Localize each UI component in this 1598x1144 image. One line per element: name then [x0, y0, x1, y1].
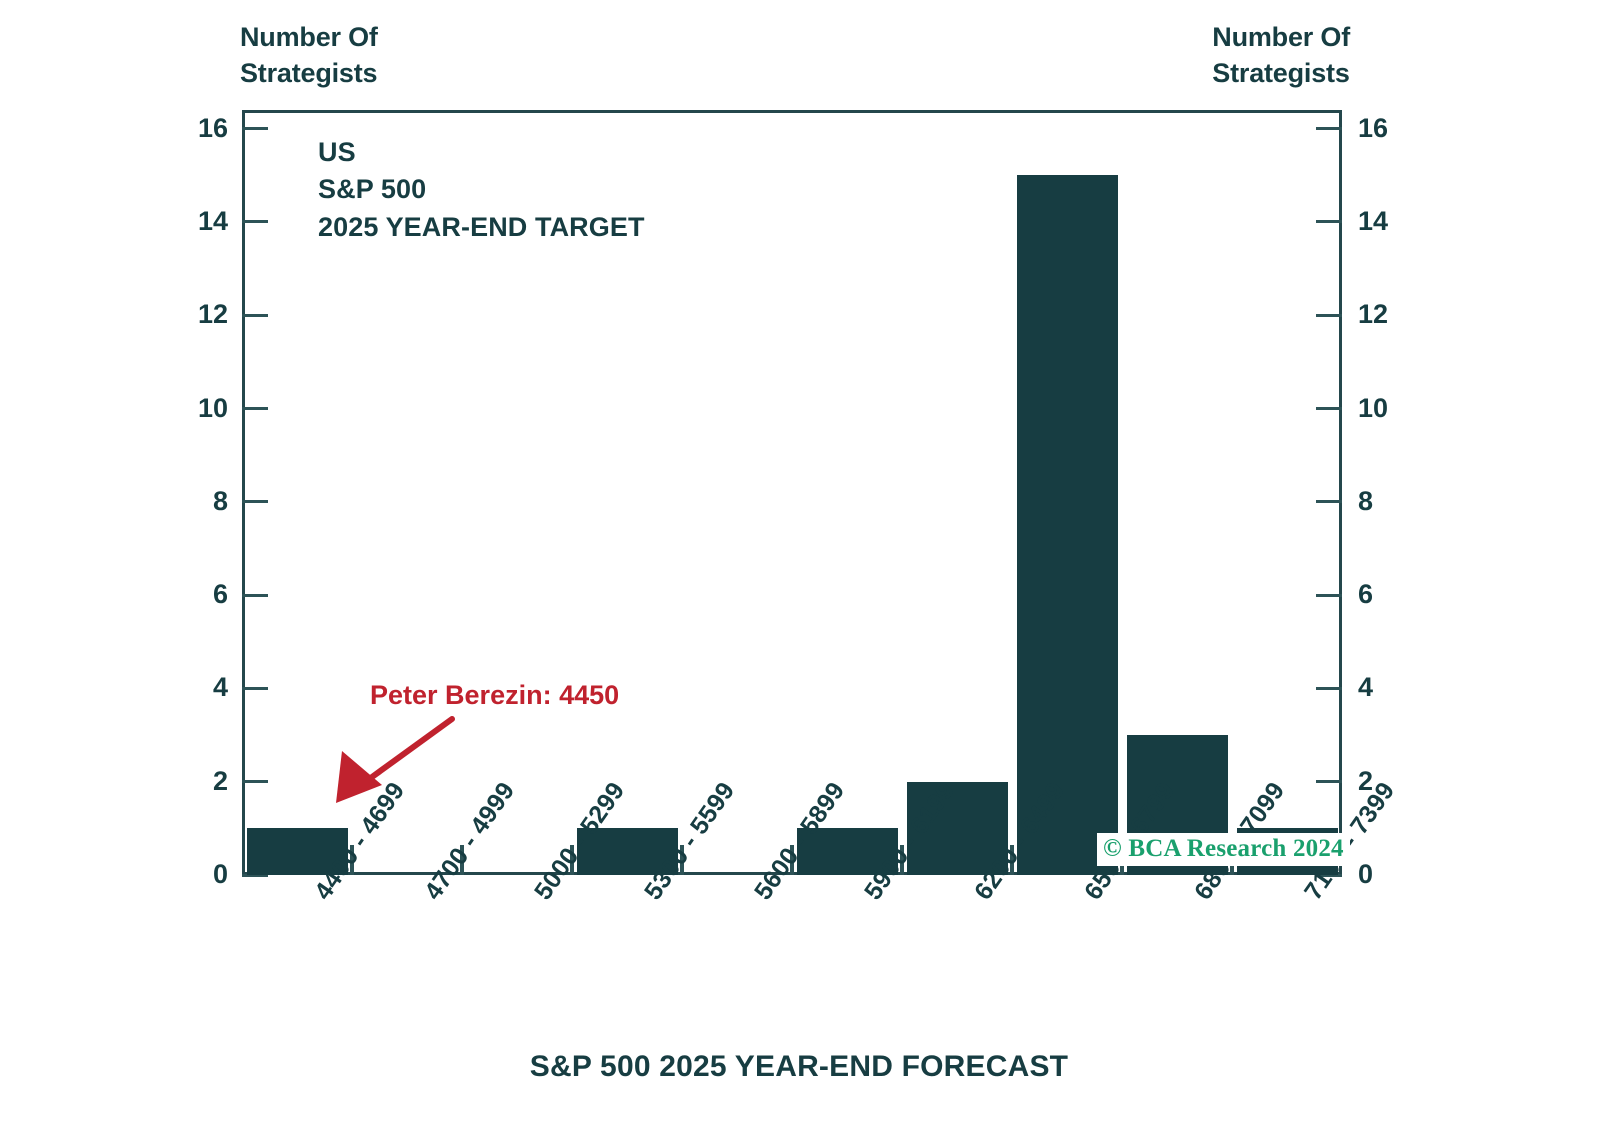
y-axis-label-right: 0	[1358, 861, 1428, 888]
y-axis-tick-right	[1316, 594, 1342, 597]
y-axis-tick-right	[1316, 780, 1342, 783]
y-axis-label-right: 14	[1358, 208, 1428, 235]
y-axis-label-left: 12	[158, 301, 228, 328]
watermark-copyright: © BCA Research 2024	[1097, 833, 1350, 866]
y-axis-label-right: 16	[1358, 115, 1428, 142]
y-axis-label-right: 12	[1358, 301, 1428, 328]
y-axis-tick-right	[1316, 500, 1342, 503]
y-axis-tick-left	[242, 407, 268, 410]
y-axis-tick-right	[1316, 687, 1342, 690]
chart-title: US S&P 500 2025 YEAR-END TARGET	[318, 134, 645, 246]
y-axis-tick-left	[242, 127, 268, 130]
y-axis-label-right: 4	[1358, 674, 1428, 701]
y-axis-label-left: 8	[158, 488, 228, 515]
y-axis-tick-left	[242, 687, 268, 690]
y-axis-label-left: 4	[158, 674, 228, 701]
chart-figure: Number Of Strategists Number Of Strategi…	[0, 0, 1598, 1144]
y-axis-tick-right	[1316, 127, 1342, 130]
y-axis-tick-left	[242, 780, 268, 783]
y-axis-tick-left	[242, 594, 268, 597]
right-axis-units-label: Number Of Strategists	[1212, 20, 1350, 91]
annotation-label-peter-berezin: Peter Berezin: 4450	[370, 680, 619, 711]
left-axis-units-label: Number Of Strategists	[240, 20, 378, 91]
y-axis-label-left: 0	[158, 861, 228, 888]
y-axis-label-left: 16	[158, 115, 228, 142]
y-axis-label-left: 10	[158, 395, 228, 422]
y-axis-label-right: 6	[1358, 581, 1428, 608]
y-axis-label-right: 10	[1358, 395, 1428, 422]
y-axis-label-right: 8	[1358, 488, 1428, 515]
y-axis-tick-left	[242, 500, 268, 503]
y-axis-label-left: 14	[158, 208, 228, 235]
y-axis-label-left: 2	[158, 768, 228, 795]
y-axis-tick-left	[242, 314, 268, 317]
x-axis-title: S&P 500 2025 YEAR-END FORECAST	[0, 1050, 1598, 1084]
y-axis-tick-right	[1316, 220, 1342, 223]
y-axis-tick-right	[1316, 314, 1342, 317]
y-axis-tick-left	[242, 220, 268, 223]
bar[interactable]	[1017, 175, 1118, 875]
y-axis-tick-right	[1316, 407, 1342, 410]
y-axis-label-left: 6	[158, 581, 228, 608]
